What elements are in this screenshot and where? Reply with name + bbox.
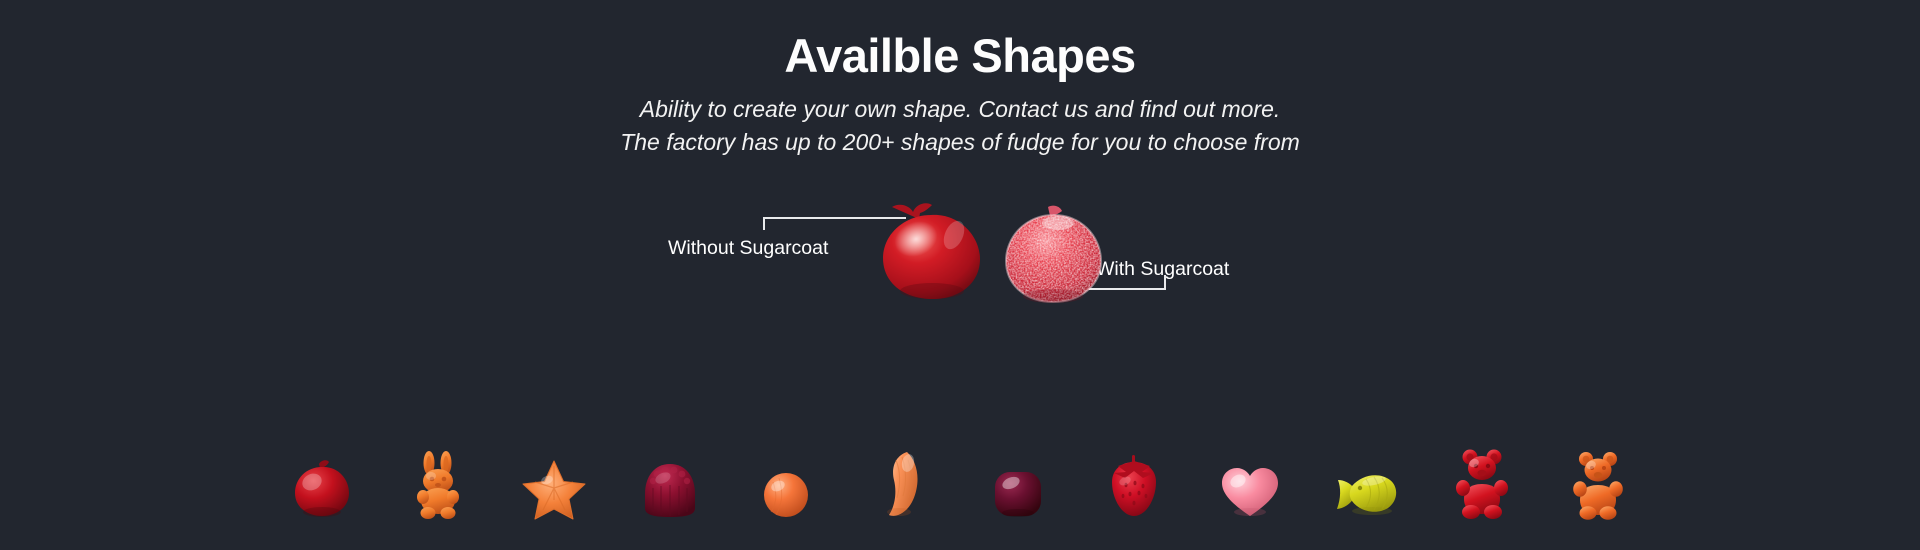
shape-item-grape-square[interactable] (980, 430, 1056, 520)
shape-item-orange-slice[interactable] (864, 430, 940, 520)
shape-item-apple[interactable] (284, 430, 360, 520)
available-shapes-page: Availble Shapes Ability to create your o… (0, 0, 1920, 550)
subtitle-line-2: The factory has up to 200+ shapes of fud… (0, 126, 1920, 159)
subtitle-line-1: Ability to create your own shape. Contac… (0, 93, 1920, 126)
shape-item-strawberry[interactable] (1096, 430, 1172, 520)
shape-item-raspberry-dome[interactable] (632, 430, 708, 520)
shapes-gallery (0, 400, 1920, 520)
sugarcoat-comparison: Without Sugarcoat With Sugarcoat (0, 195, 1920, 325)
shape-item-fish[interactable] (1328, 430, 1404, 520)
page-header: Availble Shapes Ability to create your o… (0, 0, 1920, 159)
page-subtitle: Ability to create your own shape. Contac… (0, 93, 1920, 158)
shape-item-gummy-bear-orange[interactable] (1560, 430, 1636, 520)
apple-gummy-sugarcoated-icon (1000, 203, 1108, 307)
shape-item-heart[interactable] (1212, 430, 1288, 520)
apple-gummy-plain-icon (876, 195, 986, 303)
shape-item-orange-ball[interactable] (748, 430, 824, 520)
page-title: Availble Shapes (0, 31, 1920, 80)
without-sugarcoat-label: Without Sugarcoat (668, 239, 828, 259)
apple-comparison-pair (876, 195, 1121, 305)
shape-item-star[interactable] (516, 430, 592, 520)
shape-item-gummy-bear-red[interactable] (1444, 430, 1520, 520)
shape-item-bunny[interactable] (400, 430, 476, 520)
without-sugarcoat-leader-stub (763, 217, 765, 230)
